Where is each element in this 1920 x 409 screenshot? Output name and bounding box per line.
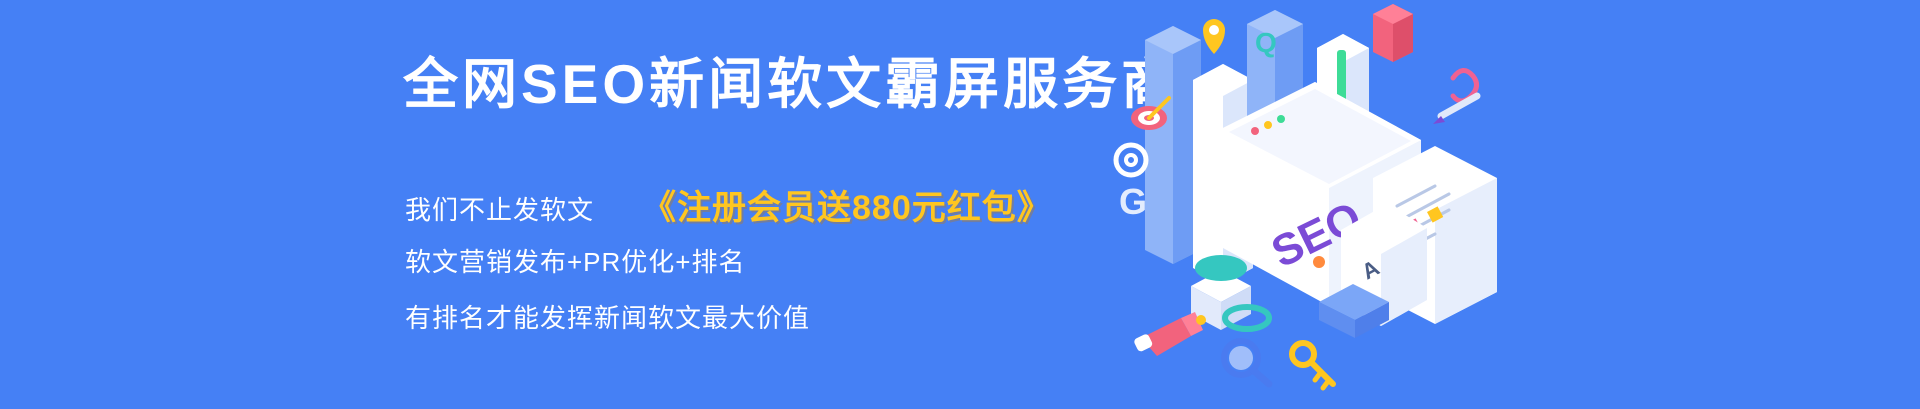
tagline-row: 我们不止发软文 《注册会员送880元红包》 [405, 180, 1052, 229]
service-list-text: 软文营销发布+PR优化+排名 [405, 242, 746, 279]
promo-badge[interactable]: 《注册会员送880元红包》 [642, 180, 1052, 229]
isometric-illustration: SEO A [1105, 0, 1535, 409]
svg-text:G: G [1119, 181, 1147, 222]
gear-icon [1116, 145, 1146, 175]
key-icon [1292, 343, 1333, 388]
tagline-text: 我们不止发软文 [405, 190, 594, 227]
coral-cap [1373, 4, 1413, 62]
magnifier-icon [1224, 341, 1269, 384]
svg-text:Q: Q [1255, 27, 1277, 58]
page-title: 全网SEO新闻软文霸屏服务商 [403, 54, 1180, 115]
value-proposition-text: 有排名才能发挥新闻软文最大价值 [405, 298, 810, 335]
location-pin-icon [1203, 19, 1225, 54]
megaphone-icon [1133, 312, 1206, 356]
seo-promo-banner: 全网SEO新闻软文霸屏服务商 我们不止发软文 《注册会员送880元红包》 软文营… [0, 0, 1920, 409]
banner-copy: 全网SEO新闻软文霸屏服务商 我们不止发软文 《注册会员送880元红包》 软文营… [395, 30, 1225, 380]
